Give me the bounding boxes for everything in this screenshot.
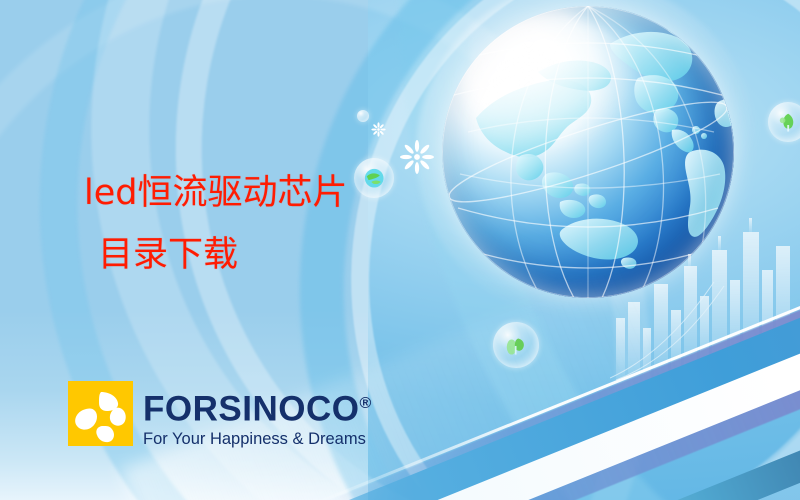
- brand-name: FORSINOCO®: [143, 385, 371, 428]
- bubble-small-icon: [357, 110, 369, 122]
- logo-text-block: FORSINOCO® For Your Happiness & Dreams: [143, 381, 371, 449]
- brand-logo: FORSINOCO® For Your Happiness & Dreams: [68, 381, 371, 449]
- headline-line-2: 目录下载: [84, 224, 414, 286]
- brand-name-text: FORSINOCO: [143, 390, 359, 429]
- flower-sparkle-small-icon: [371, 122, 386, 137]
- promo-banner: led恒流驱动芯片 目录下载 FORSINOCO® For Your Happi…: [0, 0, 800, 500]
- bubble-leaf-icon: [493, 322, 539, 368]
- page-title: led恒流驱动芯片 目录下载: [84, 162, 414, 286]
- bubble-tree-icon: [768, 102, 800, 142]
- headline-line-1: led恒流驱动芯片: [84, 162, 414, 224]
- brand-tagline: For Your Happiness & Dreams: [143, 429, 371, 449]
- registered-trademark-symbol: ®: [359, 395, 371, 412]
- four-petal-pinwheel-icon: [68, 381, 133, 446]
- city-skyline-icon: [610, 210, 800, 380]
